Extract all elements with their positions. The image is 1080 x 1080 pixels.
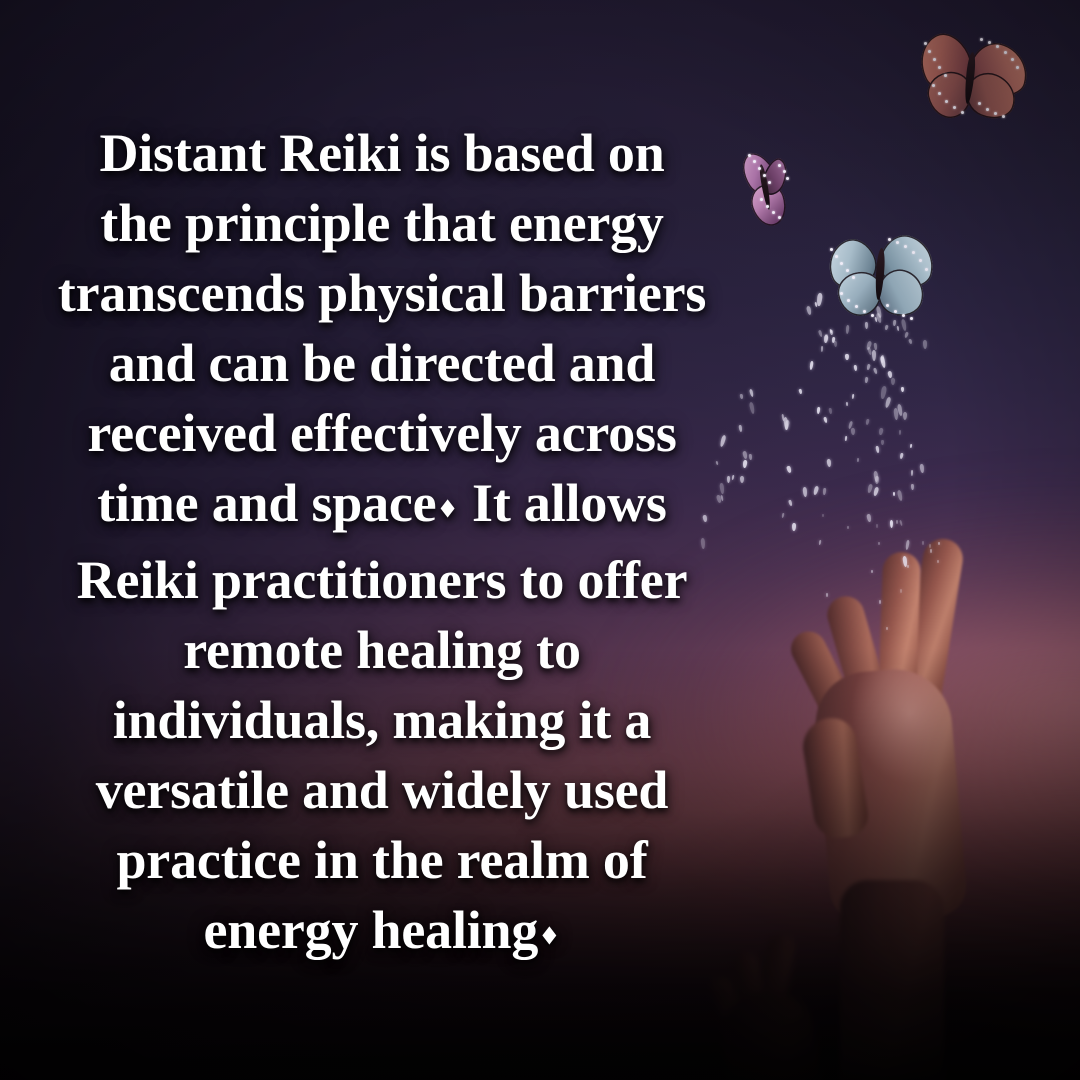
quote-line: transcends physical barriers [36, 258, 728, 328]
quote-line: energy healing♦ [36, 895, 728, 972]
quote-line: remote healing to [36, 615, 728, 685]
quote-line: time and space♦ It allows [36, 468, 728, 545]
quote-line: the principle that energy [36, 188, 728, 258]
quote-line: Distant Reiki is based on [36, 118, 728, 188]
quote-card: Distant Reiki is based onthe principle t… [0, 0, 1080, 1080]
sparkle-period-icon: ♦ [436, 475, 458, 545]
quote-line: received effectively across [36, 398, 728, 468]
quote-line: Reiki practitioners to offer [36, 545, 728, 615]
quote-line: and can be directed and [36, 328, 728, 398]
quote-line: practice in the realm of [36, 825, 728, 895]
quote-line: individuals, making it a [36, 685, 728, 755]
sparkle-period-icon: ♦ [538, 902, 560, 972]
quote-line: versatile and widely used [36, 755, 728, 825]
quote-text: Distant Reiki is based onthe principle t… [36, 118, 728, 972]
